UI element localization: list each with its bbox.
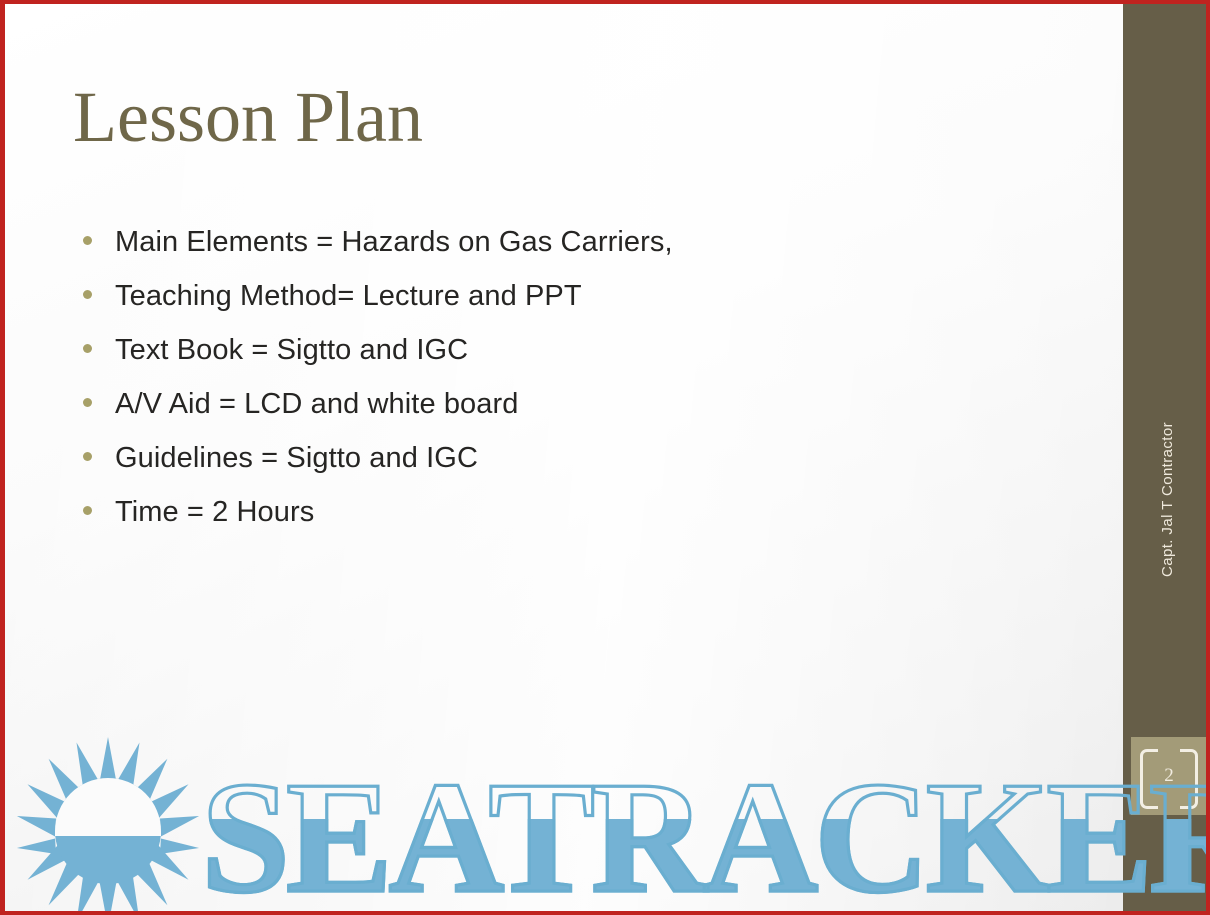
author-credit-label: Capt. Jal T Contractor: [1159, 422, 1176, 577]
bullet-list: Main Elements = Hazards on Gas Carriers,…: [83, 226, 1023, 550]
slide-number-label: 2: [1131, 737, 1207, 815]
bullet-dot-icon: [83, 452, 92, 461]
bullet-dot-icon: [83, 290, 92, 299]
bullet-dot-icon: [83, 236, 92, 245]
list-item-label: Teaching Method= Lecture and PPT: [115, 280, 582, 313]
slide-number-badge: 2: [1131, 737, 1207, 815]
list-item-label: Main Elements = Hazards on Gas Carriers,: [115, 226, 673, 259]
author-credit: Capt. Jal T Contractor: [1123, 334, 1210, 664]
list-item-label: Guidelines = Sigtto and IGC: [115, 442, 478, 475]
list-item: Time = 2 Hours: [83, 496, 1023, 550]
bullet-dot-icon: [83, 344, 92, 353]
list-item-label: Text Book = Sigtto and IGC: [115, 334, 468, 367]
page-title: Lesson Plan: [73, 80, 423, 156]
bullet-dot-icon: [83, 398, 92, 407]
list-item: Guidelines = Sigtto and IGC: [83, 442, 1023, 496]
list-item-label: Time = 2 Hours: [115, 496, 314, 529]
bullet-dot-icon: [83, 506, 92, 515]
list-item: Teaching Method= Lecture and PPT: [83, 280, 1023, 334]
list-item: A/V Aid = LCD and white board: [83, 388, 1023, 442]
list-item-label: A/V Aid = LCD and white board: [115, 388, 519, 421]
list-item: Main Elements = Hazards on Gas Carriers,: [83, 226, 1023, 280]
presentation-slide: Lesson Plan Main Elements = Hazards on G…: [0, 0, 1210, 915]
list-item: Text Book = Sigtto and IGC: [83, 334, 1023, 388]
